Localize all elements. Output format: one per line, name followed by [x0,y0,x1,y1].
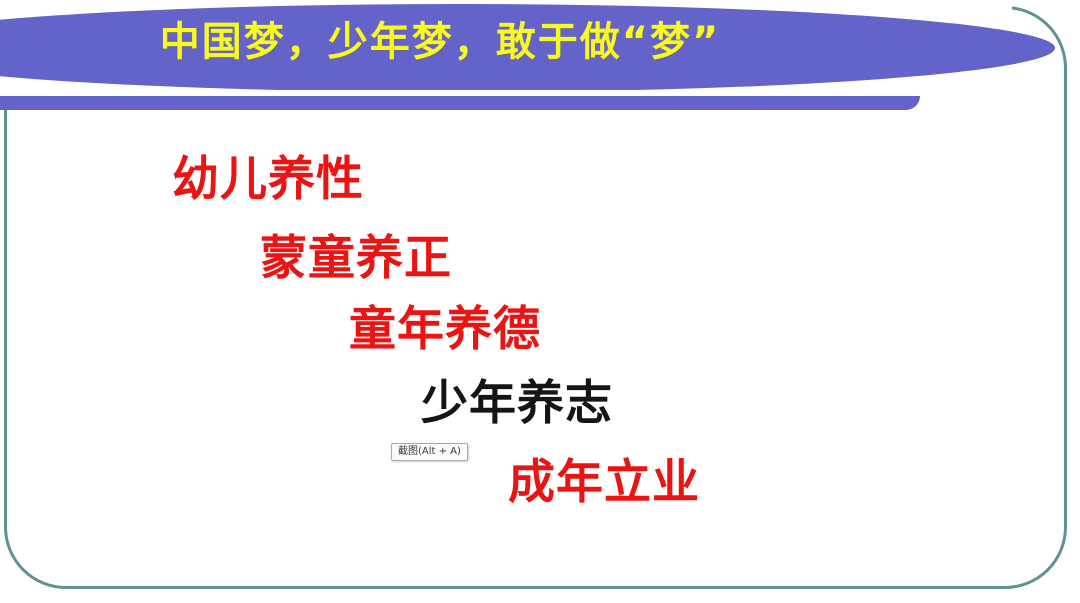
body-line-5: 成年立业 [508,455,700,511]
slide-canvas: 中国梦，少年梦，敢于做“梦” 幼儿养性 蒙童养正 童年养德 少年养志 成年立业 … [0,0,1080,603]
body-line-4: 少年养志 [421,376,613,432]
body-line-1: 幼儿养性 [172,152,364,208]
body-line-3: 童年养德 [349,302,541,358]
body-text-block: 幼儿养性 蒙童养正 童年养德 少年养志 成年立业 [0,0,1080,603]
body-line-2: 蒙童养正 [260,231,452,287]
screenshot-shortcut-tooltip: 截图(Alt + A) [391,443,468,461]
